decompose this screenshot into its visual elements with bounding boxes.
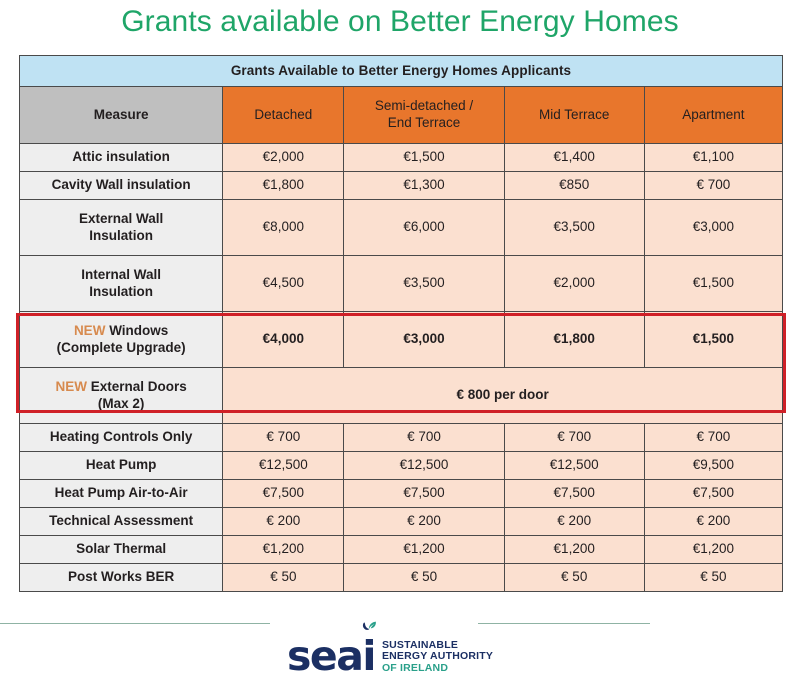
table-banner: Grants Available to Better Energy Homes … — [20, 56, 783, 87]
table-header-row: MeasureDetachedSemi-detached /End Terrac… — [20, 87, 783, 144]
table-banner-row: Grants Available to Better Energy Homes … — [20, 56, 783, 87]
row-value-cell[interactable]: €1,200 — [504, 536, 644, 564]
new-badge: NEW — [55, 379, 87, 394]
table-row: Solar Thermal€1,200€1,200€1,200€1,200 — [20, 536, 783, 564]
seai-tagline-line3: OF IRELAND — [382, 663, 493, 675]
table-row: Cavity Wall insulation€1,800€1,300€850€ … — [20, 172, 783, 200]
row-value-cell[interactable]: € 50 — [223, 564, 344, 592]
table-row: NEW Windows(Complete Upgrade)€4,000€3,00… — [20, 312, 783, 368]
row-value-cell[interactable]: € 200 — [504, 508, 644, 536]
row-value-cell[interactable]: €1,500 — [344, 144, 504, 172]
row-value-cell[interactable]: €7,500 — [504, 480, 644, 508]
row-value-cell[interactable]: € 200 — [644, 508, 782, 536]
row-value-cell[interactable]: €3,500 — [504, 200, 644, 256]
row-measure-line2: Insulation — [20, 284, 222, 301]
row-value-cell[interactable]: €2,000 — [223, 144, 344, 172]
row-value-cell[interactable]: €1,200 — [644, 536, 782, 564]
seai-wordmark-text: seai — [287, 632, 375, 677]
row-measure-line2: Insulation — [20, 228, 222, 245]
row-value-cell[interactable]: €7,500 — [344, 480, 504, 508]
row-measure-label[interactable]: Technical Assessment — [20, 508, 223, 536]
leaf-icon — [361, 621, 377, 635]
seai-tagline: SUSTAINABLE ENERGY AUTHORITY OF IRELAND — [382, 640, 493, 675]
table-row: Heat Pump€12,500€12,500€12,500€9,500 — [20, 452, 783, 480]
row-measure-label[interactable]: Heat Pump — [20, 452, 223, 480]
row-value-cell[interactable]: €1,200 — [223, 536, 344, 564]
row-value-cell[interactable]: €7,500 — [644, 480, 782, 508]
row-measure-label[interactable]: Attic insulation — [20, 144, 223, 172]
row-value-cell[interactable]: € 700 — [344, 424, 504, 452]
row-value-cell[interactable]: €4,000 — [223, 312, 344, 368]
row-measure-label[interactable]: Heat Pump Air-to-Air — [20, 480, 223, 508]
row-value-cell[interactable]: € 700 — [644, 424, 782, 452]
row-value-cell[interactable]: €7,500 — [223, 480, 344, 508]
footer-rule-left — [0, 623, 270, 624]
column-header-1[interactable]: Detached — [223, 87, 344, 144]
row-value-cell[interactable]: € 700 — [504, 424, 644, 452]
table-row: Post Works BER€ 50€ 50€ 50€ 50 — [20, 564, 783, 592]
row-measure-label[interactable]: Heating Controls Only — [20, 424, 223, 452]
column-header-line2: End Terrace — [344, 115, 503, 132]
row-value-cell[interactable]: €1,400 — [504, 144, 644, 172]
row-value-cell[interactable]: €12,500 — [344, 452, 504, 480]
row-value-cell[interactable]: €850 — [504, 172, 644, 200]
row-value-cell[interactable]: €4,500 — [223, 256, 344, 312]
row-value-cell[interactable]: €8,000 — [223, 200, 344, 256]
row-value-cell[interactable]: €1,300 — [344, 172, 504, 200]
row-measure-line1-text: External Doors — [87, 379, 187, 394]
row-measure-label[interactable]: Cavity Wall insulation — [20, 172, 223, 200]
grants-table-container: Grants Available to Better Energy Homes … — [19, 55, 783, 592]
row-value-cell[interactable]: €12,500 — [223, 452, 344, 480]
page-title: Grants available on Better Energy Homes — [0, 2, 800, 42]
row-value-cell[interactable]: € 200 — [344, 508, 504, 536]
row-measure-line1-text: Windows — [105, 323, 168, 338]
row-value-cell[interactable]: €9,500 — [644, 452, 782, 480]
column-header-3[interactable]: Mid Terrace — [504, 87, 644, 144]
table-row: Heat Pump Air-to-Air€7,500€7,500€7,500€7… — [20, 480, 783, 508]
column-header-4[interactable]: Apartment — [644, 87, 782, 144]
row-value-cell[interactable]: €1,100 — [644, 144, 782, 172]
row-value-cell[interactable]: €12,500 — [504, 452, 644, 480]
row-value-cell[interactable]: €1,800 — [504, 312, 644, 368]
row-value-cell[interactable]: € 50 — [504, 564, 644, 592]
row-value-cell[interactable]: € 50 — [644, 564, 782, 592]
column-header-measure[interactable]: Measure — [20, 87, 223, 144]
table-row: Technical Assessment€ 200€ 200€ 200€ 200 — [20, 508, 783, 536]
row-measure-label[interactable]: Solar Thermal — [20, 536, 223, 564]
row-value-cell[interactable]: €1,500 — [644, 312, 782, 368]
row-measure-line2: (Max 2) — [20, 396, 222, 413]
table-row: NEW External Doors(Max 2)€ 800 per door — [20, 368, 783, 424]
row-value-cell[interactable]: €3,000 — [644, 200, 782, 256]
table-row: Internal WallInsulation€4,500€3,500€2,00… — [20, 256, 783, 312]
row-measure-line1: External Wall — [20, 211, 222, 228]
seai-wordmark: seai — [287, 637, 375, 675]
row-measure-line1: Internal Wall — [20, 267, 222, 284]
row-measure-line2: (Complete Upgrade) — [20, 340, 222, 357]
row-value-cell[interactable]: €6,000 — [344, 200, 504, 256]
footer: seai SUSTAINABLE ENERGY AUTHORITY OF IRE… — [0, 614, 800, 677]
row-value-cell[interactable]: €1,200 — [344, 536, 504, 564]
footer-rule-right — [478, 623, 650, 624]
row-value-cell[interactable]: €3,000 — [344, 312, 504, 368]
row-span-value[interactable]: € 800 per door — [223, 368, 783, 424]
new-badge: NEW — [74, 323, 106, 338]
table-row: External WallInsulation€8,000€6,000€3,50… — [20, 200, 783, 256]
seai-tagline-line2: ENERGY AUTHORITY — [382, 651, 493, 663]
row-value-cell[interactable]: € 700 — [644, 172, 782, 200]
seai-logo: seai SUSTAINABLE ENERGY AUTHORITY OF IRE… — [287, 631, 493, 675]
grants-table: Grants Available to Better Energy Homes … — [19, 55, 783, 592]
column-header-2[interactable]: Semi-detached /End Terrace — [344, 87, 504, 144]
row-value-cell[interactable]: €1,500 — [644, 256, 782, 312]
row-measure-label[interactable]: Internal WallInsulation — [20, 256, 223, 312]
slide-canvas: Grants available on Better Energy Homes … — [0, 0, 800, 677]
row-measure-line1: NEW Windows — [20, 323, 222, 340]
row-value-cell[interactable]: € 50 — [344, 564, 504, 592]
table-row: Attic insulation€2,000€1,500€1,400€1,100 — [20, 144, 783, 172]
row-value-cell[interactable]: €1,800 — [223, 172, 344, 200]
grants-table-body: Grants Available to Better Energy Homes … — [20, 56, 783, 592]
row-measure-label[interactable]: NEW External Doors(Max 2) — [20, 368, 223, 424]
row-measure-label[interactable]: External WallInsulation — [20, 200, 223, 256]
table-row: Heating Controls Only€ 700€ 700€ 700€ 70… — [20, 424, 783, 452]
row-value-cell[interactable]: €3,500 — [344, 256, 504, 312]
column-header-line1: Semi-detached / — [344, 98, 503, 115]
row-value-cell[interactable]: €2,000 — [504, 256, 644, 312]
row-value-cell[interactable]: € 700 — [223, 424, 344, 452]
row-measure-label[interactable]: Post Works BER — [20, 564, 223, 592]
row-value-cell[interactable]: € 200 — [223, 508, 344, 536]
row-measure-label[interactable]: NEW Windows(Complete Upgrade) — [20, 312, 223, 368]
row-measure-line1: NEW External Doors — [20, 379, 222, 396]
